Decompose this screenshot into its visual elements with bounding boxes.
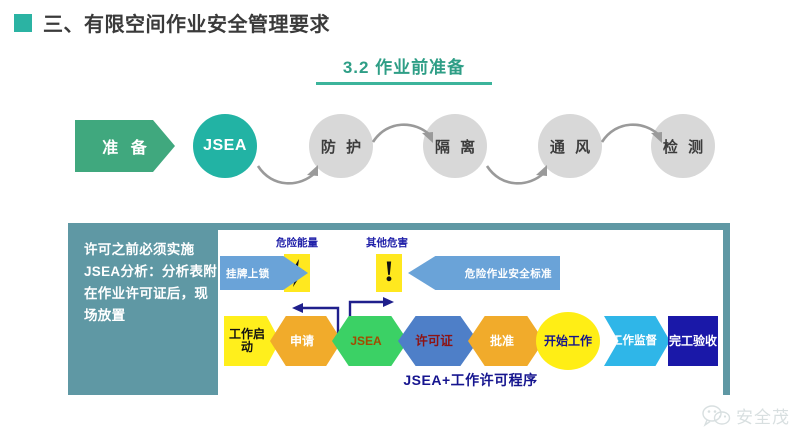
chain-step-permit[interactable]: 许可证	[398, 316, 478, 366]
flow-node-jsea[interactable]: JSEA	[193, 114, 257, 178]
lockout-tagout-label: 挂牌上锁	[226, 266, 270, 281]
page-title: 三、有限空间作业安全管理要求	[14, 8, 330, 37]
flow-node-label: JSEA	[203, 137, 247, 155]
preparation-flow: 准 备 JSEA 防 护 隔 离 通 风 检 测	[0, 104, 798, 200]
safety-standard-label: 危险作业安全标准	[465, 266, 552, 281]
hazard-label-energy: 危险能量	[276, 235, 318, 250]
chain-step-label: 工作启动	[224, 328, 270, 354]
chain-step-label: JSEA	[350, 335, 381, 348]
chain-step-completion-acceptance[interactable]: 完工验收	[668, 316, 718, 366]
watermark-text: 安全茂	[736, 403, 790, 428]
flow-arrow-curve-down-icon	[485, 162, 553, 192]
flow-arrow-curve-up-icon	[371, 116, 439, 146]
jsea-permit-panel: 许可之前必须实施JSEA分析：分析表附在作业许可证后，现场放置 危险能量 其他危…	[68, 223, 730, 395]
chain-step-approval[interactable]: 批准	[468, 316, 544, 366]
jsea-permit-diagram: 危险能量 其他危害 ! 挂牌上锁 危险作业安全标准 工作启动	[218, 230, 723, 395]
permit-process-chain: 工作启动 申请 JSEA 许可证 批准 开始工作 工作监督 完工验收	[218, 316, 723, 368]
page-title-text: 三、有限空间作业安全管理要求	[43, 8, 330, 37]
wechat-icon	[701, 405, 731, 427]
chain-step-label: 工作监督	[611, 335, 657, 348]
title-bullet-icon	[14, 14, 32, 32]
flow-node-label: 通 风	[547, 136, 593, 157]
chain-step-label: 批准	[490, 335, 514, 348]
diagram-caption: JSEA+工作许可程序	[218, 370, 723, 390]
flow-banner-label: 准 备	[99, 134, 150, 158]
chain-step-supervision[interactable]: 工作监督	[604, 316, 670, 366]
chain-step-jsea[interactable]: JSEA	[332, 316, 408, 366]
flow-arrow-curve-up-icon	[600, 116, 668, 146]
chain-step-label: 完工验收	[669, 334, 717, 348]
safety-standard-arrow: 危险作业安全标准	[408, 256, 560, 290]
section-subtitle-text: 3.2 作业前准备	[316, 53, 492, 78]
section-subtitle-underline	[316, 82, 492, 85]
chain-step-application[interactable]: 申请	[270, 316, 342, 366]
flow-banner-prepare: 准 备	[75, 120, 175, 172]
flow-arrow-curve-down-icon	[256, 162, 324, 192]
watermark: 安全茂	[701, 403, 790, 428]
section-subtitle: 3.2 作业前准备	[316, 53, 492, 85]
panel-note-text: 许可之前必须实施JSEA分析：分析表附在作业许可证后，现场放置	[84, 239, 220, 327]
chain-step-label: 许可证	[415, 335, 453, 348]
chain-step-label: 开始工作	[544, 334, 592, 348]
flow-node-label: 防 护	[318, 136, 364, 157]
chain-step-begin-work[interactable]: 开始工作	[536, 312, 600, 370]
chain-step-label: 申请	[290, 335, 314, 348]
hazard-label-other: 其他危害	[366, 235, 408, 250]
